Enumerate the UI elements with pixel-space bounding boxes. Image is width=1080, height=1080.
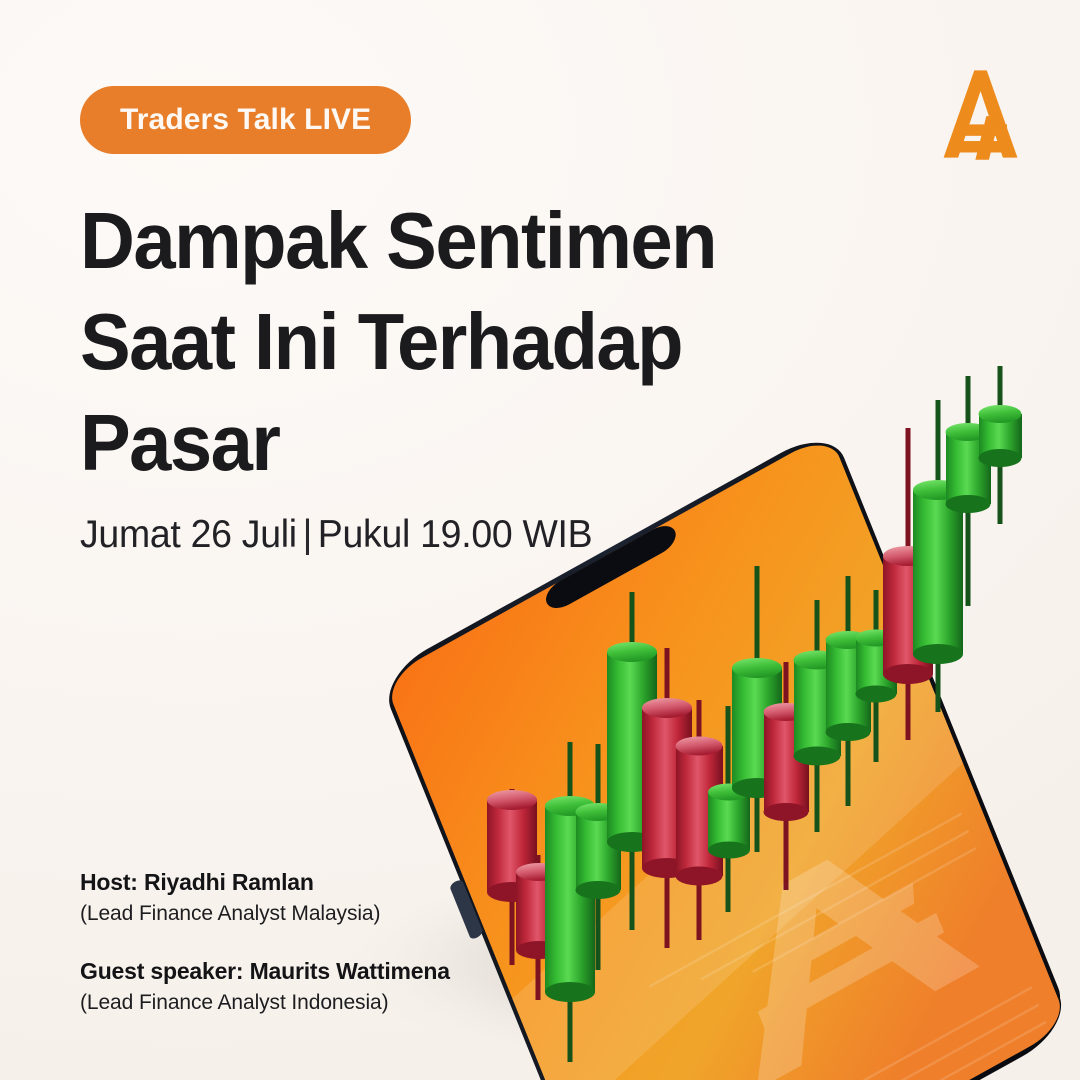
credits-block: Host: Riyadhi Ramlan (Lead Finance Analy…: [80, 866, 550, 1018]
credit-host: Host: Riyadhi Ramlan (Lead Finance Analy…: [80, 866, 550, 929]
host-role: (Lead Finance Analyst Malaysia): [80, 899, 550, 929]
guest-speaker-name: Guest speaker: Maurits Wattimena: [80, 955, 550, 987]
promo-poster: Traders Talk LIVE Dampak Sentimen Saat I…: [0, 0, 1080, 1080]
host-name: Host: Riyadhi Ramlan: [80, 866, 550, 898]
guest-speaker-role: (Lead Finance Analyst Indonesia): [80, 988, 550, 1018]
credit-guest-speaker: Guest speaker: Maurits Wattimena (Lead F…: [80, 955, 550, 1018]
